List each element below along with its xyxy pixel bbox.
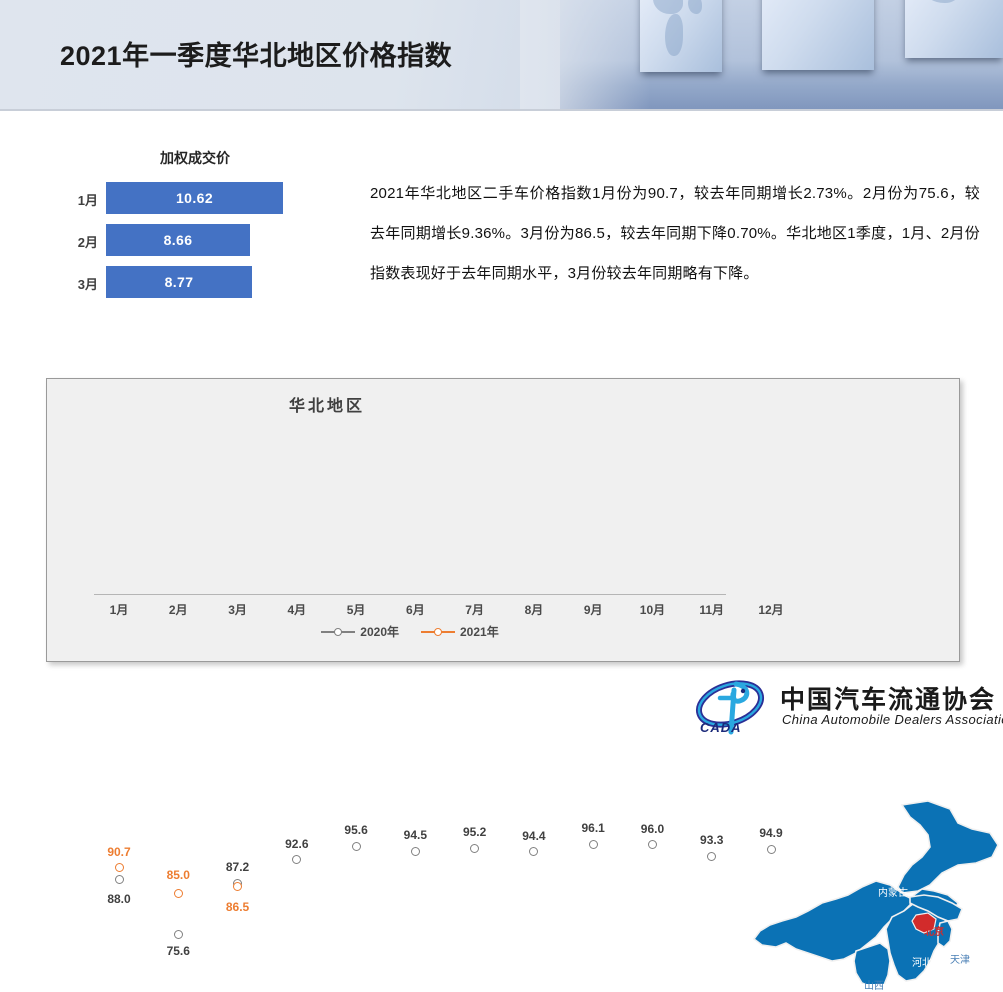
map-label-beijing: 北京 <box>924 923 944 938</box>
bar-track: 8.77 <box>106 266 306 298</box>
bar-chart-rows: 1月10.622月8.663月8.77 <box>50 182 340 308</box>
data-point-label: 95.2 <box>463 825 486 839</box>
cada-name-cn: 中国汽车流通协会 <box>780 680 996 716</box>
bar-category-label: 2月 <box>50 232 98 251</box>
data-point-label: 87.2 <box>226 860 249 874</box>
header-cube-3 <box>905 0 1003 58</box>
data-point-label: 90.7 <box>107 845 130 859</box>
data-point-label: 96.0 <box>641 822 664 836</box>
cada-abbr: CADA <box>700 720 742 735</box>
globe-continents-icon <box>762 0 874 70</box>
line-chart-plot: 1月2月3月4月5月6月7月8月9月10月11月12月 88.075.687.2… <box>47 379 959 661</box>
data-point-marker <box>174 889 183 898</box>
x-tick-label: 5月 <box>330 601 382 618</box>
header-cube-2 <box>762 0 874 70</box>
bar-chart-title: 加权成交价 <box>50 148 340 168</box>
bar-category-label: 3月 <box>50 274 98 293</box>
bar-track: 10.62 <box>106 182 306 214</box>
cada-name-en: China Automobile Dealers Association <box>782 712 1003 727</box>
legend-marker-icon <box>321 627 355 637</box>
x-axis-tick-labels: 1月2月3月4月5月6月7月8月9月10月11月12月 <box>94 601 726 623</box>
header-divider <box>0 109 1003 111</box>
data-point-label: 75.6 <box>167 944 190 958</box>
x-tick-label: 1月 <box>93 601 145 618</box>
map-label-hebei: 河北 <box>912 954 932 969</box>
bar-row: 3月8.77 <box>50 266 340 302</box>
globe-continents-icon <box>640 0 722 72</box>
header-fade-overlay <box>520 0 650 110</box>
line-chart-panel: 华北地区 1月2月3月4月5月6月7月8月9月10月11月12月 88.075.… <box>46 378 960 662</box>
x-tick-label: 7月 <box>449 601 501 618</box>
bar-category-label: 1月 <box>50 190 98 209</box>
bar-value-label: 10.62 <box>176 190 213 206</box>
x-tick-label: 10月 <box>626 601 678 618</box>
map-label-shanxi: 山西 <box>864 977 884 992</box>
weighted-price-bar-chart: 加权成交价 1月10.622月8.663月8.77 <box>50 140 340 315</box>
line-chart-legend: 2020年2021年 <box>47 623 773 640</box>
data-point-marker <box>470 844 479 853</box>
map-region-inner-mongolia <box>754 801 998 961</box>
x-tick-label: 8月 <box>508 601 560 618</box>
legend-item-2021年[interactable]: 2021年 <box>421 623 499 640</box>
data-point-marker <box>589 840 598 849</box>
summary-paragraph: 2021年华北地区二手车价格指数1月份为90.7，较去年同期增长2.73%。2月… <box>370 174 980 294</box>
header-cube-1 <box>640 0 722 72</box>
x-tick-label: 3月 <box>212 601 264 618</box>
map-label-tianjin: 天津 <box>950 951 970 966</box>
bar-row: 1月10.62 <box>50 182 340 218</box>
data-point-label: 94.4 <box>522 829 545 843</box>
x-tick-label: 6月 <box>389 601 441 618</box>
data-point-marker <box>174 930 183 939</box>
data-point-label: 85.0 <box>167 868 190 882</box>
cada-logo: CADA 中国汽车流通协会 China Automobile Dealers A… <box>690 678 990 740</box>
data-point-marker <box>233 882 242 891</box>
x-tick-label: 2月 <box>152 601 204 618</box>
data-point-marker <box>115 863 124 872</box>
data-point-marker <box>115 875 124 884</box>
data-point-marker <box>707 852 716 861</box>
bar-track: 8.66 <box>106 224 306 256</box>
data-point-label: 96.1 <box>581 821 604 835</box>
data-point-marker <box>411 847 420 856</box>
legend-label: 2021年 <box>460 623 499 640</box>
data-point-marker <box>352 842 361 851</box>
data-point-label: 94.5 <box>404 828 427 842</box>
data-point-marker <box>292 855 301 864</box>
legend-item-2020年[interactable]: 2020年 <box>321 623 399 640</box>
x-tick-label: 9月 <box>567 601 619 618</box>
globe-continents-icon <box>905 0 1003 58</box>
legend-marker-icon <box>421 627 455 637</box>
slide-header: 2021年一季度华北地区价格指数 <box>0 0 1003 110</box>
data-point-marker <box>529 847 538 856</box>
bar-fill: 8.66 <box>106 224 250 256</box>
data-point-label: 93.3 <box>700 833 723 847</box>
data-point-label: 95.6 <box>344 823 367 837</box>
x-tick-label: 11月 <box>686 601 738 618</box>
bar-row: 2月8.66 <box>50 224 340 260</box>
bar-fill: 8.77 <box>106 266 252 298</box>
x-tick-label: 12月 <box>745 601 797 618</box>
data-point-marker <box>648 840 657 849</box>
map-label-inner-mongolia: 内蒙古 <box>878 884 908 899</box>
page-title: 2021年一季度华北地区价格指数 <box>60 34 452 73</box>
legend-label: 2020年 <box>360 623 399 640</box>
data-point-label: 88.0 <box>107 892 130 906</box>
bar-fill: 10.62 <box>106 182 283 214</box>
north-china-map: 内蒙古北京河北天津山西 <box>752 799 1003 984</box>
bar-value-label: 8.77 <box>165 274 194 290</box>
data-point-label: 92.6 <box>285 837 308 851</box>
data-point-label: 86.5 <box>226 900 249 914</box>
slide-root: 2021年一季度华北地区价格指数 加权成交价 1月10.622月8.663月8.… <box>0 0 1003 748</box>
bar-value-label: 8.66 <box>164 232 193 248</box>
x-tick-label: 4月 <box>271 601 323 618</box>
x-axis-line <box>94 594 726 595</box>
